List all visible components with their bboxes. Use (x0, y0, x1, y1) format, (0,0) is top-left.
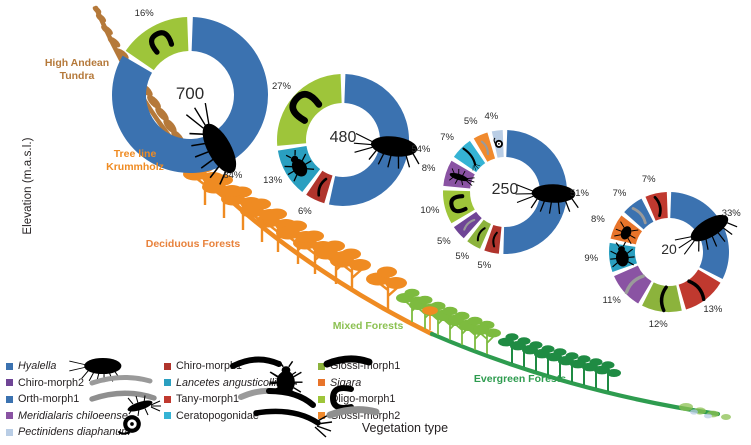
slice-percent-label: 4% (484, 111, 498, 122)
donut-slice[interactable] (126, 17, 189, 70)
donut-slice[interactable] (609, 243, 637, 272)
slice-percent-label: 5% (455, 251, 469, 262)
legend-swatch (6, 396, 13, 403)
legend-item[interactable]: Glossi-morph2 (318, 408, 488, 425)
donut-center-label: 480 (313, 129, 373, 147)
legend-swatch (318, 363, 325, 370)
slice-percent-label: 8% (422, 163, 436, 174)
legend-item-label: Pectinidens diaphanum (18, 426, 130, 438)
slice-percent-label: 84% (223, 170, 242, 181)
legend-item-label: Chiro-morph1 (176, 360, 242, 372)
legend-item-label: Chiro-morph2 (18, 377, 84, 389)
slice-percent-label: 13% (703, 304, 722, 315)
legend-swatch (318, 412, 325, 419)
slice-percent-label: 16% (135, 8, 154, 19)
slice-percent-label: 7% (642, 174, 656, 185)
slice-percent-label: 5% (464, 116, 478, 127)
legend-swatch (164, 363, 171, 370)
figure-canvas: 84%16%70054%6%13%27%48051%5%5%5%10%8%7%5… (0, 0, 751, 445)
legend-item[interactable]: Pectinidens diaphanum (6, 424, 196, 441)
legend-swatch (6, 429, 13, 436)
legend-item-label: Meridialaris chiloeense (18, 410, 128, 422)
legend: HyalellaChiro-morph2Orth-morph1Meridiala… (6, 358, 566, 438)
slice-percent-label: 27% (272, 81, 291, 92)
legend-item[interactable]: Glossi-morph1 (318, 358, 488, 375)
legend-item-label: Hyalella (18, 360, 56, 372)
slice-percent-label: 9% (584, 253, 598, 264)
slice-percent-label: 7% (613, 188, 627, 199)
y-axis-label: Elevation (m.a.s.l.) (22, 106, 34, 266)
legend-item-label: Tany-morph1 (176, 393, 239, 405)
zone-label-mixed-forests: Mixed Forests (313, 320, 423, 333)
donut-slice[interactable] (670, 192, 729, 279)
slice-percent-label: 5% (477, 260, 491, 271)
legend-swatch (164, 379, 171, 386)
legend-swatch (6, 363, 13, 370)
slice-percent-label: 5% (437, 236, 451, 247)
legend-item-label: Ceratopogonidae (176, 410, 259, 422)
slice-percent-label: 7% (440, 132, 454, 143)
legend-swatch (164, 412, 171, 419)
slice-percent-label: 33% (722, 208, 741, 219)
legend-item-label: Sigara (330, 377, 361, 389)
slice-percent-label: 11% (602, 295, 620, 306)
donut-center-label: 20 (639, 241, 699, 257)
legend-item-label: Glossi-morph1 (330, 360, 400, 372)
legend-item-label: Orth-morph1 (18, 393, 79, 405)
legend-item-label: Glossi-morph2 (330, 410, 400, 422)
legend-swatch (6, 379, 13, 386)
donut-center-label: 250 (475, 181, 535, 199)
legend-item[interactable]: Oligo-morph1 (318, 391, 488, 408)
slice-percent-label: 12% (649, 319, 668, 330)
legend-swatch (318, 379, 325, 386)
slice-percent-label: 54% (411, 144, 430, 155)
donut-center-label: 700 (160, 84, 220, 104)
legend-item[interactable]: Sigara (318, 375, 488, 392)
legend-column-3: Glossi-morph1SigaraOligo-morph1Glossi-mo… (318, 358, 488, 424)
zone-label-tree-line-krummholz: Tree line Krummholz (85, 148, 185, 174)
legend-item-label: Lancetes angusticollis (176, 377, 282, 389)
slice-percent-label: 8% (591, 214, 605, 225)
legend-swatch (164, 396, 171, 403)
slice-percent-label: 10% (420, 205, 439, 216)
slice-percent-label: 6% (298, 206, 312, 217)
legend-swatch (318, 396, 325, 403)
zone-label-high-andean-tundra: High Andean Tundra (22, 57, 132, 83)
slice-percent-label: 51% (570, 188, 589, 199)
legend-item-label: Oligo-morph1 (330, 393, 395, 405)
zone-label-deciduous-forests: Deciduous Forests (128, 238, 258, 251)
legend-swatch (6, 412, 13, 419)
slice-percent-label: 13% (263, 175, 282, 186)
